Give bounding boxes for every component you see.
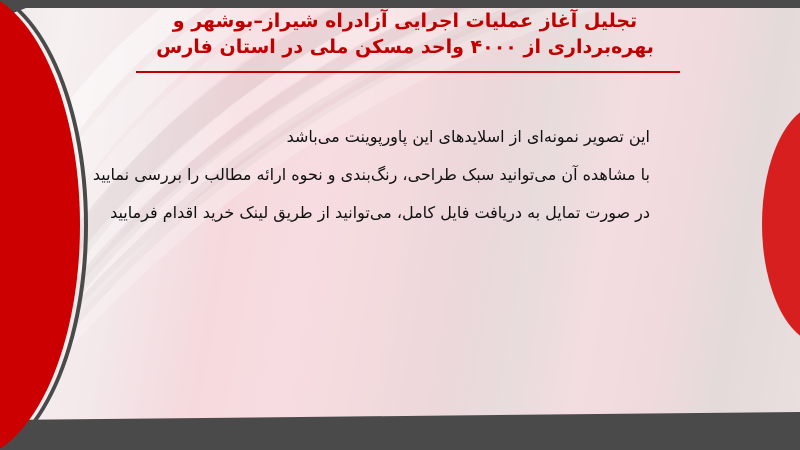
slide-body-line-1: این تصویر نمونه‌ای از اسلایدهای این پاور…	[130, 118, 650, 156]
slide-body-line-3: در صورت تمایل به دریافت فایل کامل، می‌تو…	[130, 194, 650, 232]
slide-title-line-2: بهره‌برداری از ۴۰۰۰ واحد مسکن ملی در است…	[120, 34, 690, 60]
slide-title-line-1: تجلیل آغاز عملیات اجرایی آزادراه شیراز–ب…	[120, 8, 690, 34]
slide-body-line-2: با مشاهده آن می‌توانید سبک طراحی، رنگ‌بن…	[130, 156, 650, 194]
presentation-slide: تجلیل آغاز عملیات اجرایی آزادراه شیراز–ب…	[0, 0, 800, 450]
slide-title-underline	[136, 71, 680, 73]
slide-body: این تصویر نمونه‌ای از اسلایدهای این پاور…	[130, 118, 650, 232]
slide-title: تجلیل آغاز عملیات اجرایی آزادراه شیراز–ب…	[120, 8, 690, 60]
